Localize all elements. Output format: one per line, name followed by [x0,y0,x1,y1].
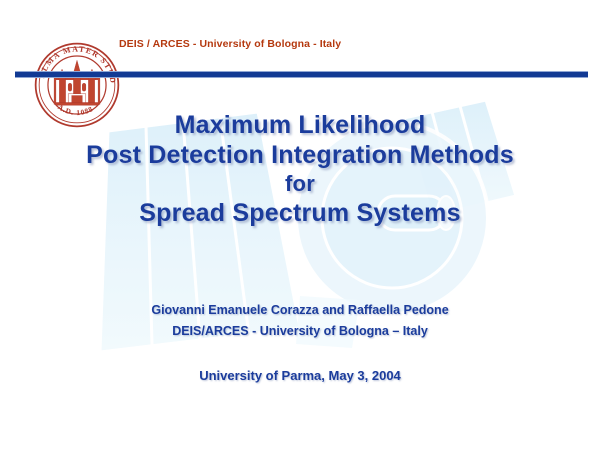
header-affiliation: DEIS / ARCES - University of Bologna - I… [119,38,341,50]
presentation-slide: ALMA MATER STUDIORUM A.D. 1088 DEIS / AR… [0,0,600,464]
author-affiliation: DEIS/ARCES - University of Bologna – Ita… [0,321,600,342]
title-line-2: Post Detection Integration Methods [0,140,600,170]
header-accent-bar [15,71,588,78]
slide-title: Maximum Likelihood Post Detection Integr… [0,110,600,228]
title-line-3: for [0,170,600,198]
venue-and-date: University of Parma, May 3, 2004 [0,368,600,383]
title-line-4: Spread Spectrum Systems [0,198,600,228]
author-block: Giovanni Emanuele Corazza and Raffaella … [0,300,600,342]
venue-block: University of Parma, May 3, 2004 [0,368,600,383]
author-names: Giovanni Emanuele Corazza and Raffaella … [0,300,600,321]
title-line-1: Maximum Likelihood [0,110,600,140]
